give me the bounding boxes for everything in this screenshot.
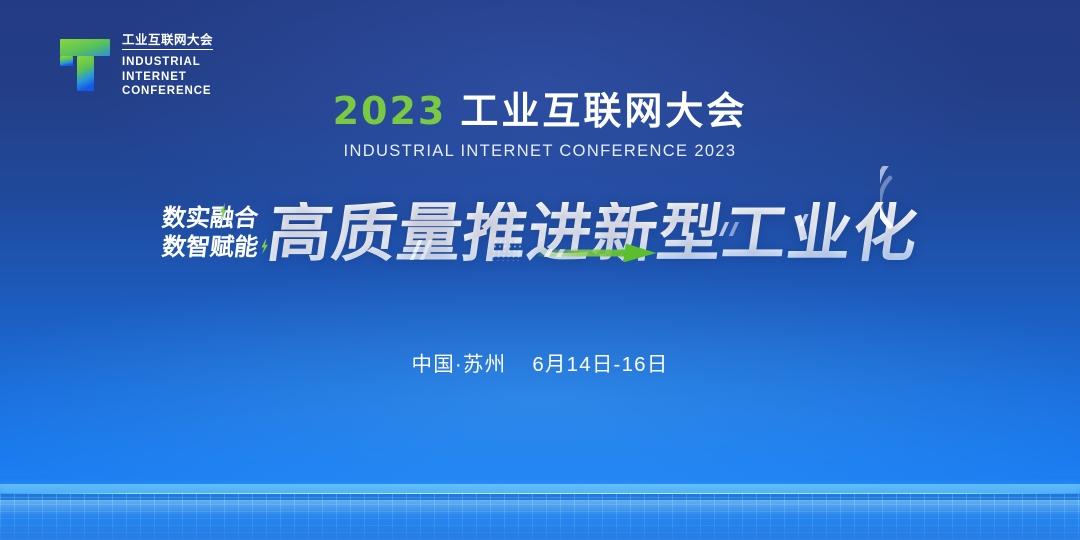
wifi-signal-icon xyxy=(880,166,950,236)
slogan-secondary-group: 数实融合 数智赋能 xyxy=(162,206,258,262)
event-date: 6月14日-16日 xyxy=(532,353,668,376)
slogan-inner: 数实融合 数智赋能 高质量推进新型工业化 xyxy=(162,202,918,266)
conference-poster: 工业互联网大会 INDUSTRIAL INTERNET CONFERENCE 2… xyxy=(0,0,1080,540)
slogan-secondary-line-2: 数智赋能 xyxy=(160,235,259,260)
slogan-secondary-line-1: 数实融合 xyxy=(160,206,259,231)
headline-main: 2023工业互联网大会 xyxy=(0,92,1080,131)
industry-right-skyline xyxy=(0,374,1080,494)
grid-sheen xyxy=(0,500,1080,516)
event-location: 中国·苏州 xyxy=(412,353,507,376)
logo-en-line-1: INDUSTRIAL xyxy=(122,55,213,70)
headline-chinese-title: 工业互联网大会 xyxy=(460,91,747,133)
headline-english-subtitle: INDUSTRIAL INTERNET CONFERENCE 2023 xyxy=(0,142,1080,161)
logo-text-group: 工业互联网大会 INDUSTRIAL INTERNET CONFERENCE xyxy=(122,32,213,99)
headline-year: 2023 xyxy=(333,89,447,133)
logo-block[interactable]: 工业互联网大会 INDUSTRIAL INTERNET CONFERENCE xyxy=(58,32,213,99)
storage-tank-icon xyxy=(726,421,788,493)
slogan-primary: 高质量推进新型工业化 xyxy=(264,202,923,266)
logo-en-line-2: INTERNET xyxy=(122,70,213,85)
logo-chinese-name: 工业互联网大会 xyxy=(122,34,213,50)
headline-block: 2023工业互联网大会 INDUSTRIAL INTERNET CONFEREN… xyxy=(0,92,1080,161)
slogan-secondary-line-1-text: 数实融合 xyxy=(160,204,259,232)
industrial-internet-conference-logo-icon xyxy=(58,37,112,93)
event-meta: 中国·苏州6月14日-16日 xyxy=(0,347,1080,377)
slogan-secondary-line-2-text: 数智赋能 xyxy=(160,233,259,261)
